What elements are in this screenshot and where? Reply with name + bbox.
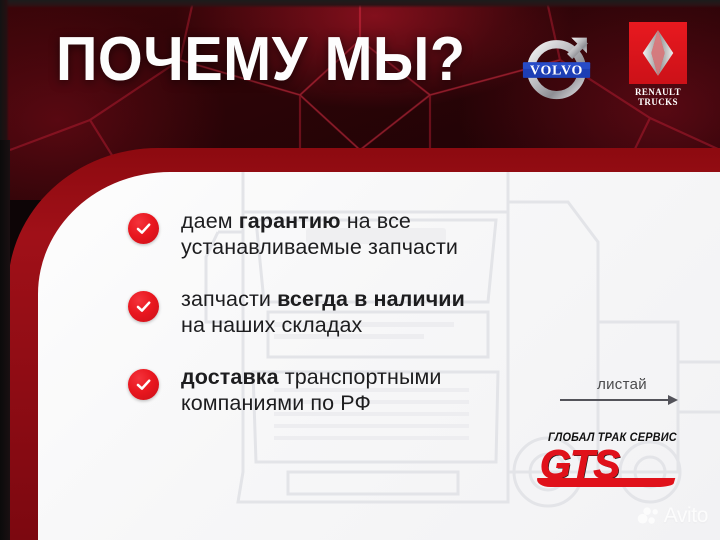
check-circle-icon <box>128 369 159 400</box>
benefit-text-line2: устанавливаемые запчасти <box>181 235 458 259</box>
swipe-hint: листай <box>560 376 684 405</box>
benefit-text: доставка транспортными компаниями по РФ <box>181 364 442 416</box>
list-item: даем гарантию на все устанавливаемые зап… <box>128 208 558 260</box>
benefit-text: даем гарантию на все устанавливаемые зап… <box>181 208 458 260</box>
benefit-list: даем гарантию на все устанавливаемые зап… <box>128 208 558 442</box>
benefit-text-line2: на наших складах <box>181 313 362 337</box>
benefit-text-pre: запчасти <box>181 287 277 311</box>
avito-watermark: Avito <box>637 504 708 528</box>
benefit-text-emphasis: всегда в наличии <box>277 287 465 311</box>
swipe-label: листай <box>560 376 684 393</box>
list-item: запчасти всегда в наличии на наших склад… <box>128 286 558 338</box>
benefit-text-emphasis: гарантию <box>239 209 341 233</box>
benefit-text-emphasis: доставка <box>181 365 279 389</box>
content-panel: даем гарантию на все устанавливаемые зап… <box>0 0 720 540</box>
benefit-text-line2: компаниями по РФ <box>181 391 371 415</box>
benefit-text-post: транспортными <box>279 365 442 389</box>
gts-logo: ГЛОБАЛ ТРАК СЕРВИС GTS <box>540 432 690 488</box>
avito-dots-icon <box>637 507 659 525</box>
benefit-text: запчасти всегда в наличии на наших склад… <box>181 286 465 338</box>
arrow-head <box>668 395 678 405</box>
arrow-shaft <box>560 399 672 401</box>
list-item: доставка транспортными компаниями по РФ <box>128 364 558 416</box>
benefit-text-post: на все <box>341 209 411 233</box>
arrow-right-icon <box>560 395 684 405</box>
check-circle-icon <box>128 213 159 244</box>
avito-wordmark: Avito <box>664 504 708 528</box>
promo-slide: ПОЧЕМУ МЫ? <box>0 0 720 540</box>
gts-swoosh <box>535 478 676 487</box>
benefit-text-pre: даем <box>181 209 239 233</box>
panel-left-edge <box>0 140 10 540</box>
check-circle-icon <box>128 291 159 322</box>
